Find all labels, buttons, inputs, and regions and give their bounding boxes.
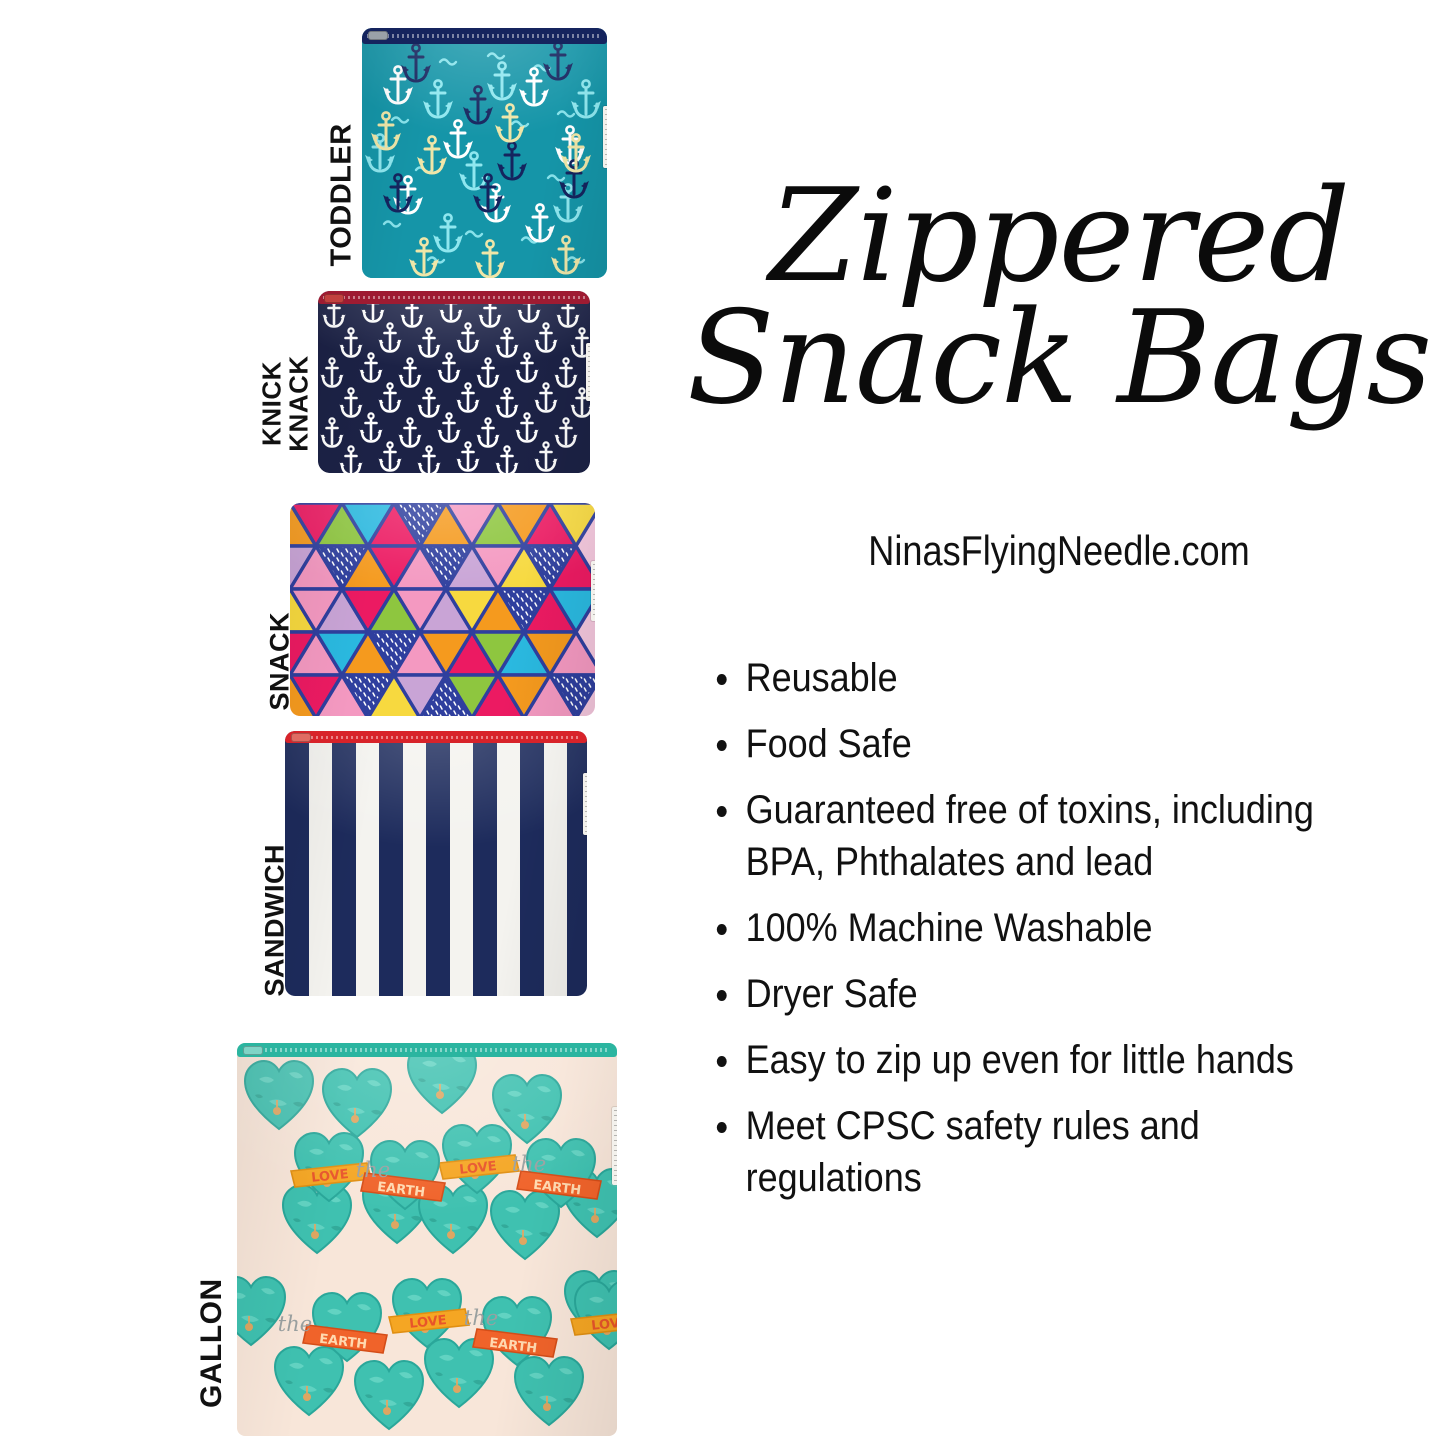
title-line-1: Zippered (678, 178, 1440, 296)
bullet-icon (717, 1056, 727, 1067)
bag-image-toddler (362, 28, 607, 278)
list-item: Guaranteed free of toxins, including BPA… (706, 784, 1336, 888)
list-item: Food Safe (706, 718, 1336, 770)
feature-text: Food Safe (746, 722, 912, 766)
bag-image-gallon: LOVE EARTH the (237, 1043, 617, 1436)
bullet-icon (717, 806, 727, 817)
list-item: Meet CPSC safety rules and regulations (706, 1100, 1336, 1204)
product-image-column: TODDLER (0, 0, 680, 1440)
product-row-toddler: TODDLER (0, 0, 680, 285)
bullet-icon (717, 674, 727, 685)
care-tag (591, 561, 595, 621)
page-title: Zippered Snack Bags (678, 178, 1440, 418)
size-label-gallon: GALLON (195, 1208, 229, 1408)
care-tag (583, 773, 587, 835)
anchor-pattern-teal (362, 28, 607, 278)
anchor-pattern-navy (318, 291, 590, 473)
product-row-gallon: GALLON (0, 1021, 680, 1440)
bag-image-knick-knack (318, 291, 590, 473)
zipper-gallon (237, 1043, 617, 1057)
size-label-line-2: KNACK (283, 355, 313, 451)
list-item: 100% Machine Washable (706, 902, 1336, 954)
zipper-pull-icon (243, 1046, 263, 1055)
size-label-line-1: KNICK (256, 361, 286, 446)
zipper-toddler (362, 28, 607, 44)
care-tag (603, 106, 607, 168)
zipper-sandwich (285, 731, 587, 743)
list-item: Reusable (706, 652, 1336, 704)
list-item: Easy to zip up even for little hands (706, 1034, 1336, 1086)
zipper-pull-icon (291, 733, 311, 742)
feature-text: Meet CPSC safety rules and regulations (746, 1104, 1200, 1200)
feature-text: Dryer Safe (746, 972, 918, 1016)
product-row-knick-knack: KNICK KNACK (0, 285, 680, 495)
feature-text: 100% Machine Washable (746, 906, 1153, 950)
feature-list: Reusable Food Safe Guaranteed free of to… (706, 652, 1406, 1218)
zipper-knick-knack (318, 291, 590, 304)
bag-image-snack (290, 503, 595, 716)
product-row-sandwich: SANDWICH (0, 731, 680, 1021)
product-row-snack: SNACK (0, 495, 680, 731)
title-line-2: Snack Bags (678, 300, 1440, 418)
triangle-pattern (290, 503, 595, 716)
feature-text: Reusable (746, 656, 898, 700)
bullet-icon (717, 740, 727, 751)
care-tag (586, 343, 590, 401)
size-label-knick-knack: KNICK KNACK (258, 304, 311, 504)
text-column: Zippered Snack Bags NinasFlyingNeedle.co… (678, 0, 1440, 1440)
bullet-icon (717, 1122, 727, 1133)
website-url: NinasFlyingNeedle.com (731, 527, 1386, 575)
bag-image-sandwich (285, 731, 587, 996)
bullet-icon (717, 924, 727, 935)
care-tag (612, 1107, 617, 1185)
infographic-canvas: TODDLER (0, 0, 1440, 1440)
love-the-earth-pattern: LOVE EARTH the (237, 1043, 617, 1436)
feature-text: Easy to zip up even for little hands (746, 1038, 1294, 1082)
zipper-pull-icon (324, 294, 344, 303)
bullet-icon (717, 990, 727, 1001)
feature-text: Guaranteed free of toxins, including BPA… (746, 788, 1314, 884)
list-item: Dryer Safe (706, 968, 1336, 1020)
size-label-toddler: TODDLER (326, 67, 359, 267)
zipper-pull-icon (368, 31, 388, 40)
